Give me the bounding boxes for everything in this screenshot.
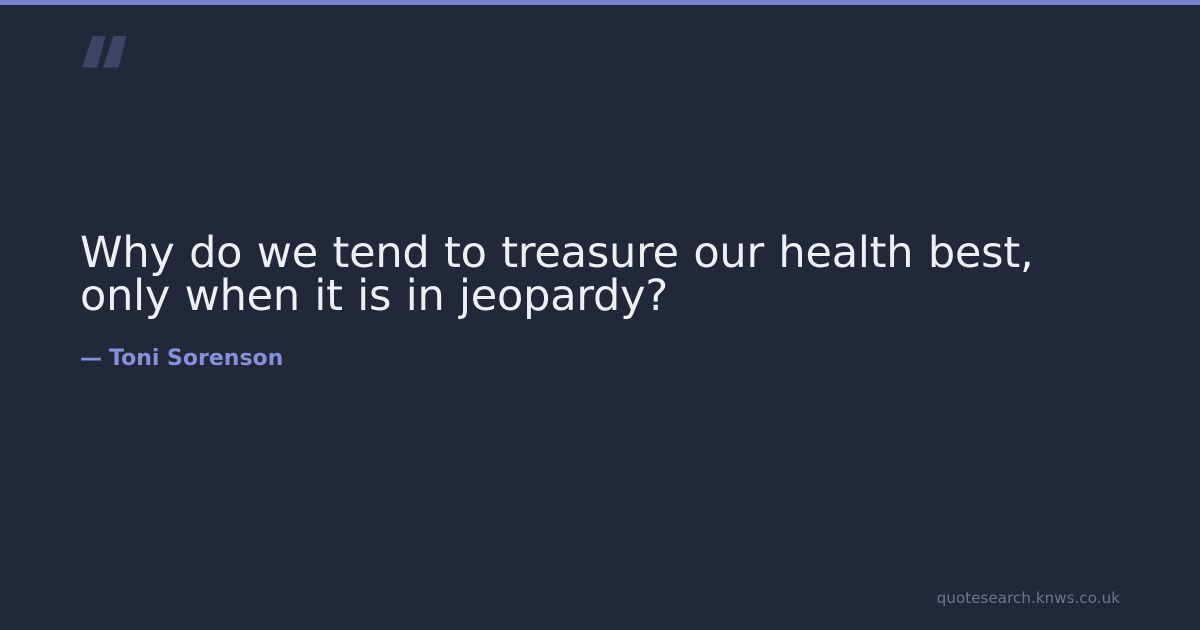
quote-block: Why do we tend to treasure our health be… bbox=[80, 232, 1125, 318]
quote-text: Why do we tend to treasure our health be… bbox=[80, 232, 1125, 318]
quote-attribution: —Toni Sorenson bbox=[80, 344, 283, 374]
site-watermark: quotesearch.knws.co.uk bbox=[937, 588, 1120, 608]
quote-card: Why do we tend to treasure our health be… bbox=[0, 0, 1200, 630]
double-quote-icon bbox=[78, 36, 138, 84]
attribution-author: Toni Sorenson bbox=[109, 346, 283, 371]
attribution-dash: — bbox=[80, 344, 102, 374]
top-accent-bar bbox=[0, 0, 1200, 5]
